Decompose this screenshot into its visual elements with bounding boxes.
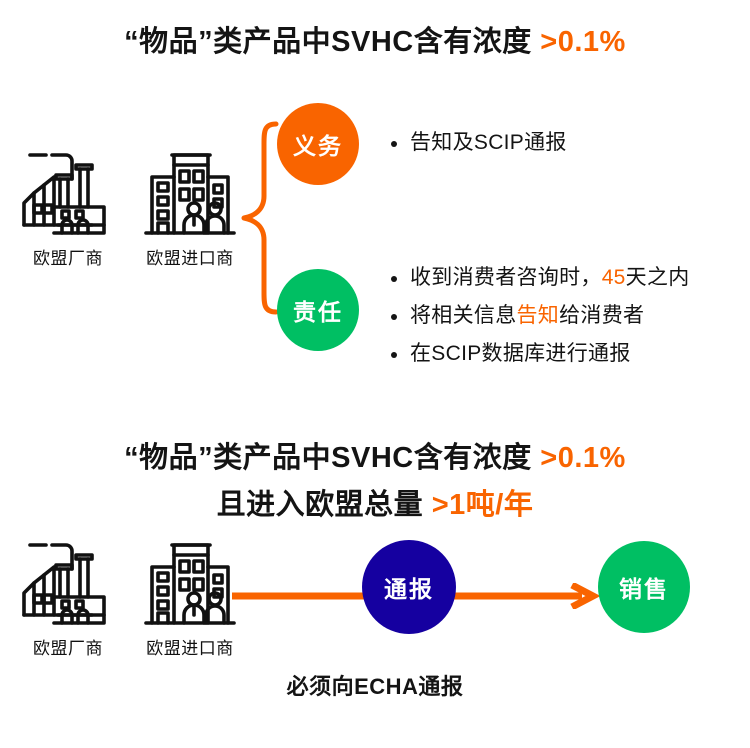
bottom-section-title-line1: “物品”类产品中SVHC含有浓度 >0.1%	[0, 434, 750, 476]
entity-label: 欧盟进口商	[146, 634, 234, 659]
bullet-segment-accent: 告知	[517, 304, 560, 327]
bubble-obligation[interactable]: 义务	[277, 103, 359, 185]
top-section-title: “物品”类产品中SVHC含有浓度 >0.1%	[0, 18, 750, 60]
top-title-main: “物品”类产品中SVHC含有浓度	[124, 26, 540, 58]
curly-brace-icon	[228, 118, 284, 323]
list-item-continuation: 将相关信息告知给消费者	[389, 297, 690, 335]
bubble-responsibility[interactable]: 责任	[277, 269, 359, 351]
bottom-title-line2-accent: >1吨/年	[432, 489, 534, 521]
bullet-segment: 天之内	[626, 266, 690, 289]
bullet-segment: 在SCIP数据库进行通报	[410, 342, 631, 365]
bottom-title-line1-main: “物品”类产品中SVHC含有浓度	[124, 442, 540, 474]
flow-caption: 必须向ECHA通报	[0, 669, 750, 701]
flow-node-notification[interactable]: 通报	[362, 540, 456, 634]
list-item: 在SCIP数据库进行通报	[389, 335, 690, 373]
flow-node-sales-label: 销售	[619, 570, 669, 604]
bullet-segment-accent: 45	[602, 266, 626, 289]
entity-label: 欧盟厂商	[33, 244, 103, 269]
entity-label: 欧盟进口商	[146, 244, 234, 269]
bottom-title-line1-accent: >0.1%	[540, 442, 626, 474]
entity-eu-manufacturer-bottom: 欧盟厂商	[12, 535, 124, 659]
factory-icon	[18, 535, 118, 632]
top-title-accent: >0.1%	[540, 26, 626, 58]
bullet-segment: 给消费者	[559, 304, 644, 327]
entity-label: 欧盟厂商	[33, 634, 103, 659]
office-building-people-icon	[140, 145, 240, 242]
flow-node-notification-label: 通报	[384, 570, 434, 604]
bottom-section-title-line2: 且进入欧盟总量 >1吨/年	[0, 481, 750, 523]
list-item: 收到消费者咨询时，45天之内	[389, 259, 690, 297]
office-building-people-icon	[140, 535, 240, 632]
bullet-list-obligation: 告知及SCIP通报	[389, 124, 567, 162]
entity-group-top: 欧盟厂商	[12, 145, 246, 269]
bubble-obligation-label: 义务	[293, 127, 343, 161]
entity-eu-manufacturer-top: 欧盟厂商	[12, 145, 124, 269]
bullet-segment: 将相关信息	[410, 304, 517, 327]
entity-eu-importer-bottom: 欧盟进口商	[134, 535, 246, 659]
bullet-segment: 收到消费者咨询时，	[410, 266, 602, 289]
bubble-responsibility-label: 责任	[293, 293, 343, 327]
bullet-list-responsibility: 收到消费者咨询时，45天之内 将相关信息告知给消费者 在SCIP数据库进行通报	[389, 259, 690, 373]
entity-group-bottom: 欧盟厂商	[12, 535, 246, 659]
flow-node-sales[interactable]: 销售	[598, 541, 690, 633]
bottom-title-line2-main: 且进入欧盟总量	[217, 489, 432, 521]
factory-icon	[18, 145, 118, 242]
bullet-segment: 告知及SCIP通报	[410, 131, 567, 154]
list-item: 告知及SCIP通报	[389, 124, 567, 162]
